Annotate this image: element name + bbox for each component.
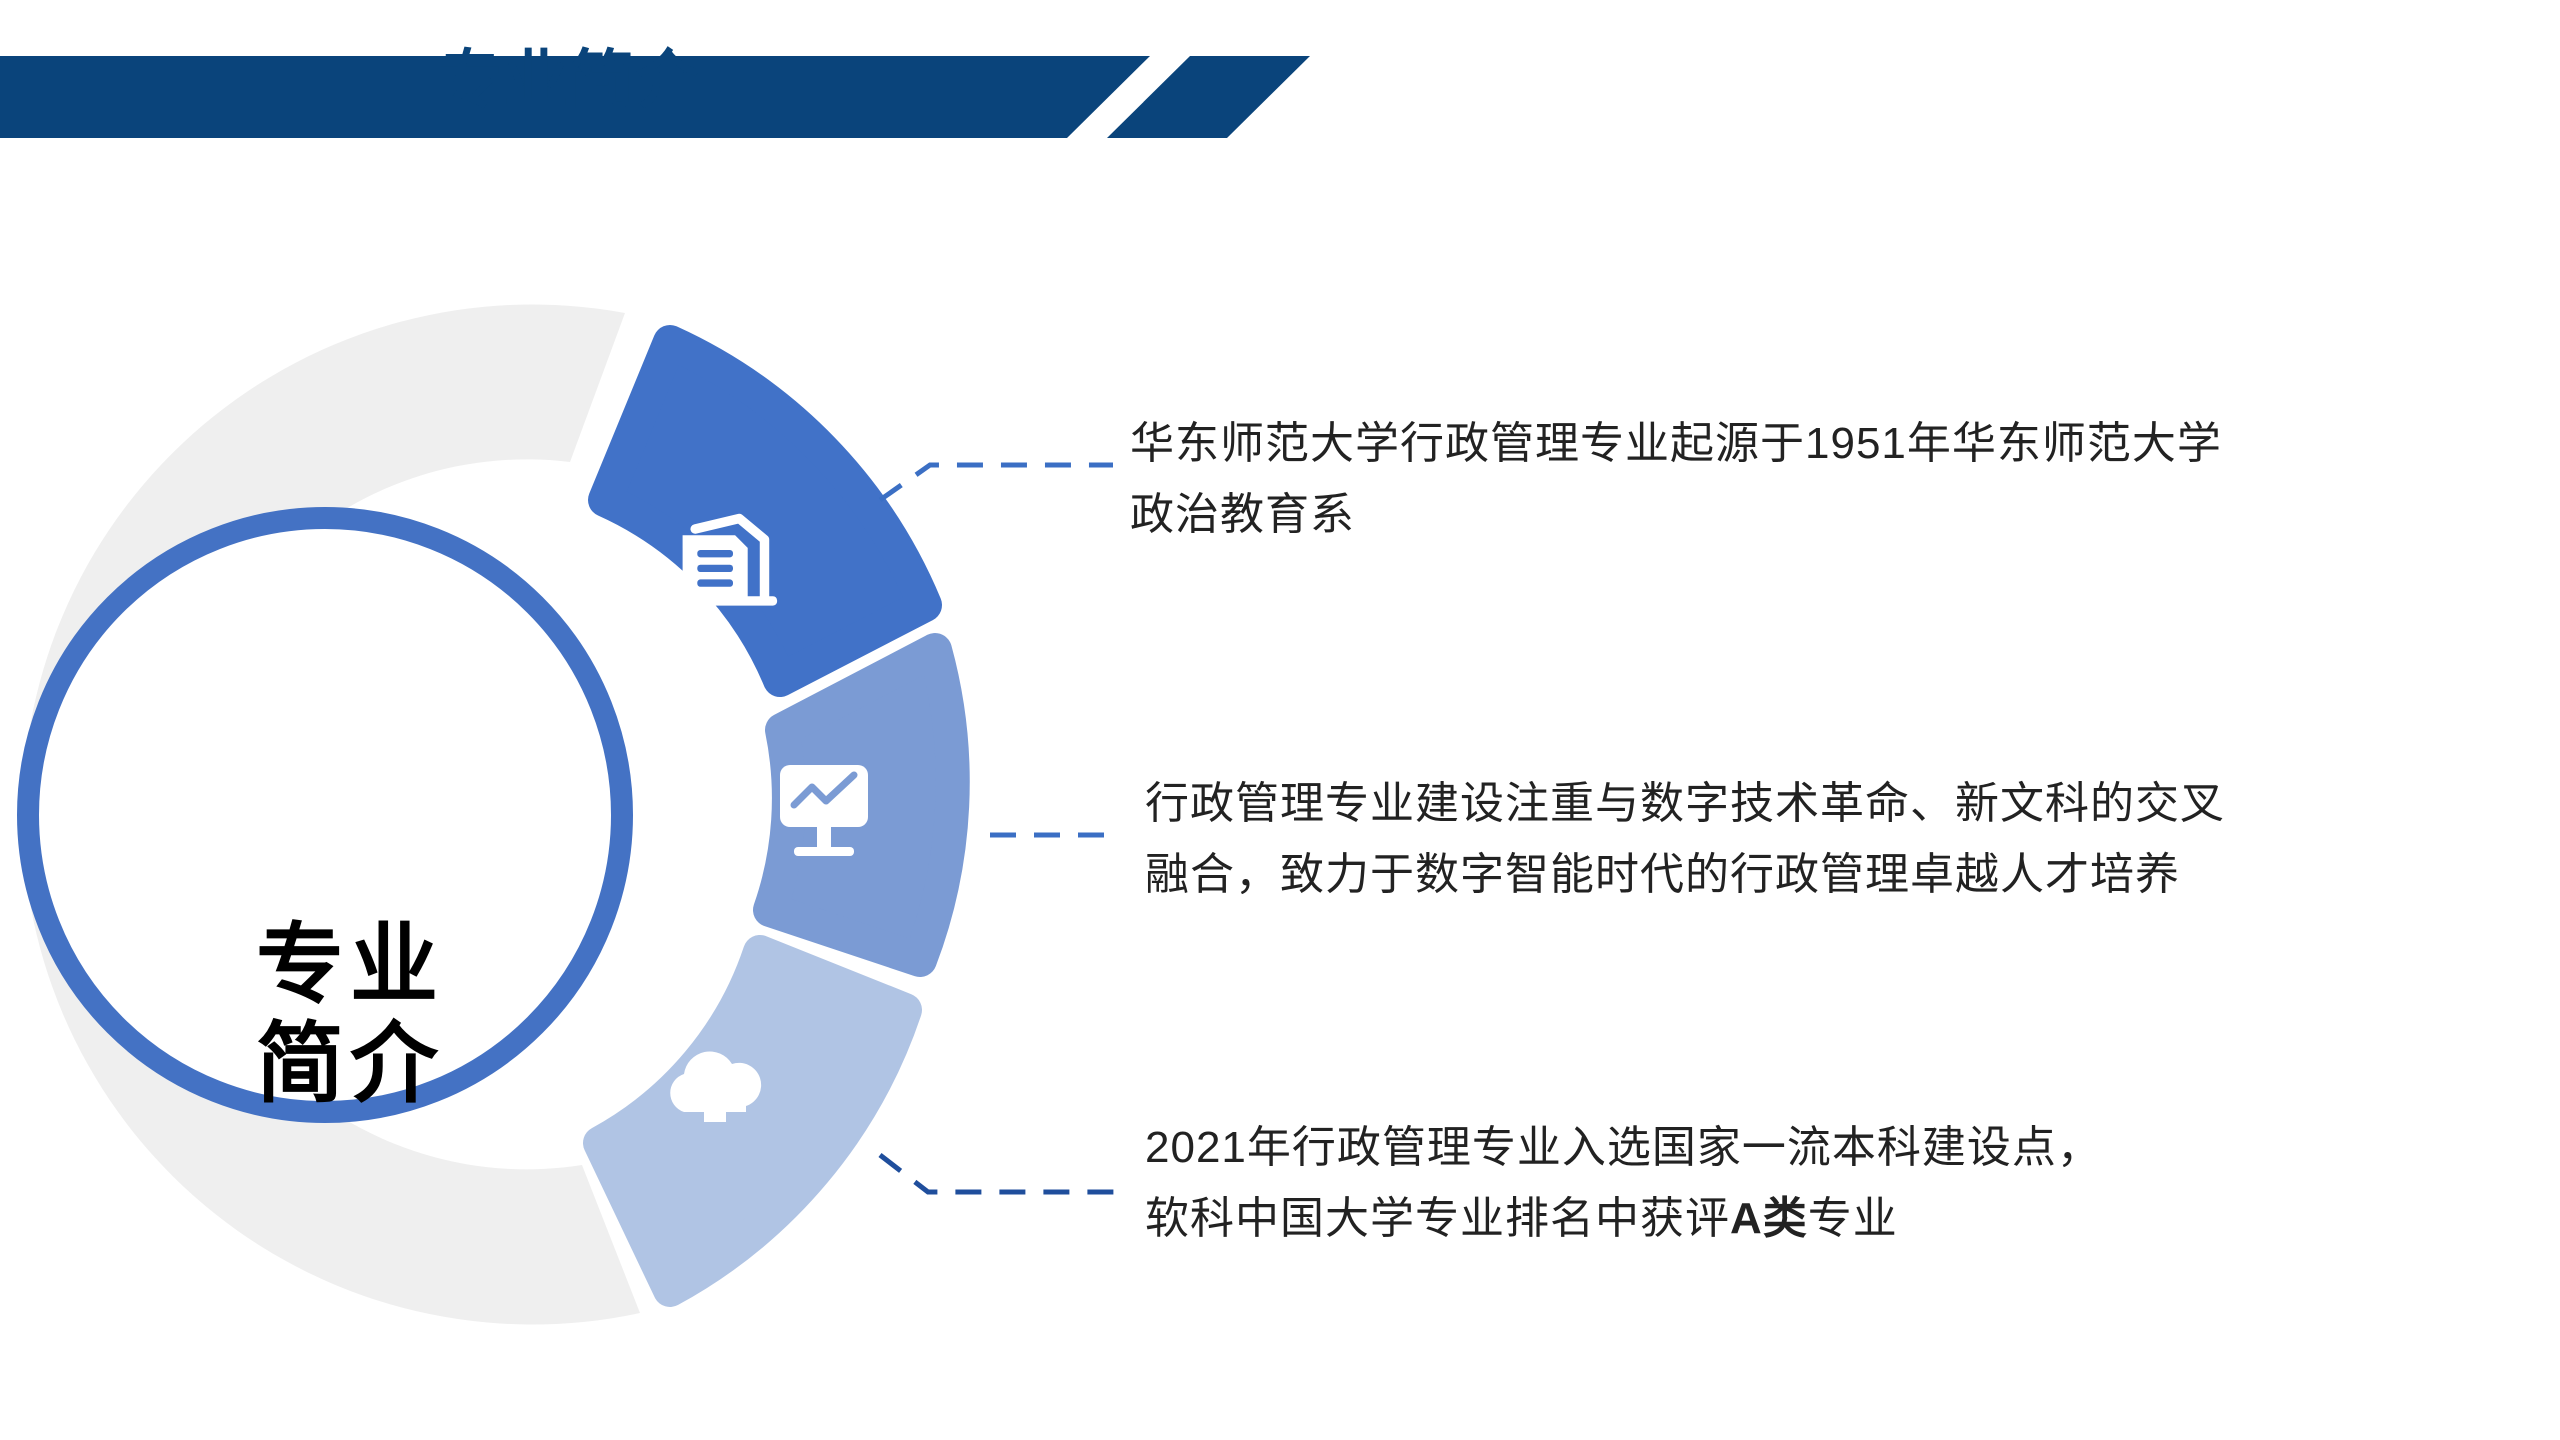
info-block-3-line-2-part-a: 软科中国大学专业排名中获评 <box>1145 1194 1730 1243</box>
donut-segment-1[interactable] <box>605 342 925 680</box>
info-block-3-line-2-part-c: 专业 <box>1808 1194 1898 1243</box>
info-block-1: 华东师范大学行政管理专业起源于1951年华东师范大学 政治教育系 <box>1130 408 2222 551</box>
info-block-1-line-1: 华东师范大学行政管理专业起源于1951年华东师范大学 <box>1130 408 2222 479</box>
donut-segment-2[interactable] <box>770 650 953 960</box>
info-block-2: 行政管理专业建设注重与数字技术革命、新文科的交叉 融合，致力于数字智能时代的行政… <box>1145 768 2225 911</box>
info-block-2-line-1: 行政管理专业建设注重与数字技术革命、新文科的交叉 <box>1145 768 2225 839</box>
info-block-3-line-1: 2021年行政管理专业入选国家一流本科建设点， <box>1145 1112 2102 1183</box>
info-block-3-line-2: 软科中国大学专业排名中获评A类专业 <box>1145 1183 2102 1254</box>
donut-segment-3-shape[interactable] <box>600 952 905 1290</box>
page-title: 专业简介 <box>438 44 702 118</box>
info-block-2-line-2: 融合，致力于数字智能时代的行政管理卓越人才培养 <box>1145 839 2225 910</box>
info-block-3-grade-badge: A类 <box>1730 1194 1808 1243</box>
info-block-3: 2021年行政管理专业入选国家一流本科建设点， 软科中国大学专业排名中获评A类专… <box>1145 1112 2102 1255</box>
donut-segment-3[interactable] <box>600 952 905 1290</box>
center-label: 专业 简介 <box>160 916 540 1113</box>
header-slash-accent <box>1107 56 1310 138</box>
info-block-1-line-2: 政治教育系 <box>1130 479 2222 550</box>
donut-diagram: 专业 简介 <box>0 250 1030 1380</box>
center-label-line-2: 简介 <box>160 1015 540 1114</box>
donut-segment-1-shape[interactable] <box>605 342 925 680</box>
center-label-line-1: 专业 <box>160 916 540 1015</box>
donut-svg <box>0 250 1030 1380</box>
